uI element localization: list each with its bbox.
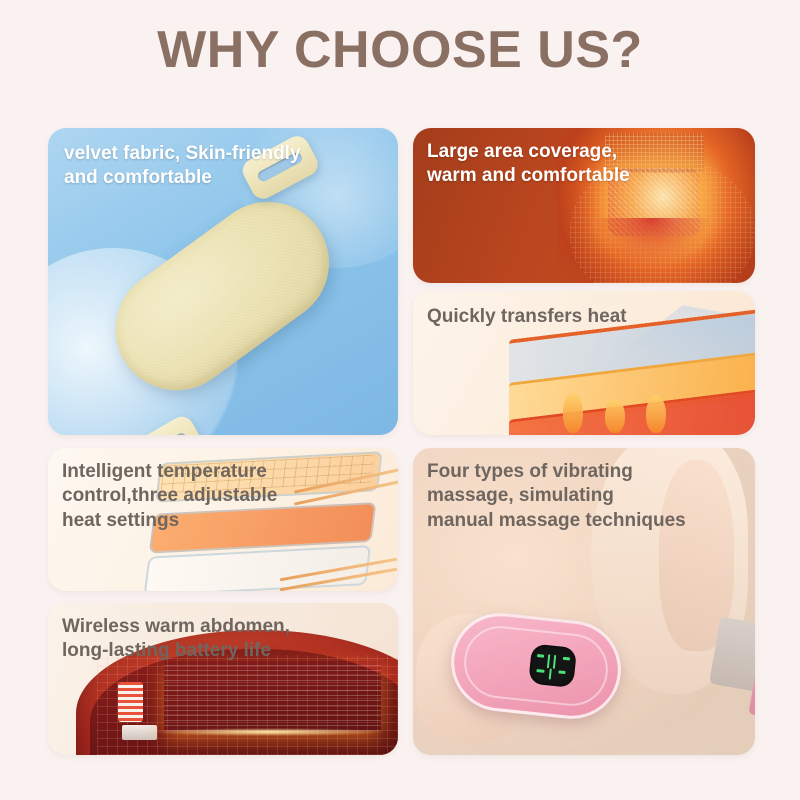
feature-card-temperature-control[interactable]: Intelligent temperature control,three ad… (48, 448, 398, 591)
led-display-screen (527, 643, 577, 688)
flame-icon (605, 399, 625, 433)
belt-pad-shape (91, 178, 353, 415)
circuit-chip (122, 725, 157, 740)
flame-icon (563, 393, 583, 433)
feature-card-large-coverage[interactable]: Large area coverage, warm and comfortabl… (413, 128, 755, 283)
feature-caption-quick-heat-transfer: Quickly transfers heat (427, 305, 627, 329)
feature-caption-wireless-battery: Wireless warm abdomen, long-lasting batt… (62, 615, 290, 664)
feature-card-vibrating-massage[interactable]: Four types of vibrating massage, simulat… (413, 448, 755, 755)
feature-caption-vibrating-massage: Four types of vibrating massage, simulat… (427, 460, 686, 533)
battery-cell (118, 682, 143, 722)
flame-icon (646, 395, 666, 433)
feature-caption-temperature-control: Intelligent temperature control,three ad… (62, 460, 277, 533)
feature-card-quick-heat-transfer[interactable]: Quickly transfers heat (413, 291, 755, 435)
feature-card-velvet-fabric[interactable]: velvet fabric, Skin-friendly and comfort… (48, 128, 398, 435)
strap-slot (142, 431, 189, 435)
page-title: WHY CHOOSE US? (0, 24, 800, 76)
orange-heating-film (164, 661, 381, 731)
heating-glow (153, 728, 384, 736)
feature-caption-large-coverage: Large area coverage, warm and comfortabl… (427, 140, 630, 189)
feature-card-wireless-battery[interactable]: Wireless warm abdomen, long-lasting batt… (48, 603, 398, 755)
feature-caption-velvet-fabric: velvet fabric, Skin-friendly and comfort… (64, 142, 301, 191)
thermal-glow-arc (594, 218, 710, 265)
